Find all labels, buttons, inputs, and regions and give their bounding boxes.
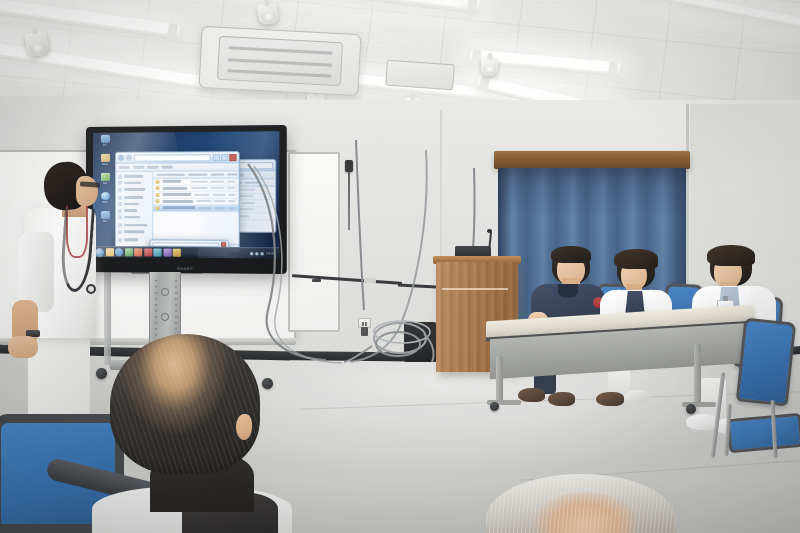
ceiling-spotlight: [24, 30, 50, 57]
hair-fringe: [614, 249, 658, 269]
clasped-hands: [8, 336, 38, 358]
tv-stand-mount-hole: [161, 313, 169, 321]
explorer-titlebar[interactable]: [116, 152, 239, 164]
ceiling-spotlight: [257, 3, 279, 25]
start-button[interactable]: [95, 248, 104, 257]
ceiling-air-conditioner: [198, 26, 361, 96]
office-taskbar-icon[interactable]: [144, 248, 152, 256]
caster-wheel-icon: [96, 368, 107, 379]
blue-stacking-chair[interactable]: [736, 318, 796, 407]
sidebar-group-network[interactable]: [118, 237, 151, 242]
shoe: [596, 392, 624, 406]
maximize-button[interactable]: [221, 154, 228, 161]
table-row[interactable]: [154, 205, 239, 212]
table-leg: [694, 344, 701, 406]
id-badge-clip-icon: [723, 296, 728, 301]
ceiling-spotlight: [481, 58, 498, 76]
display-brand-label: SHARP: [177, 266, 193, 271]
caster-wheel-icon: [262, 378, 273, 389]
browser-taskbar-icon[interactable]: [115, 248, 123, 256]
minimize-button[interactable]: [213, 154, 220, 161]
caster-wheel-icon: [686, 404, 696, 414]
microphone-icon: [487, 229, 492, 233]
mail-taskbar-icon[interactable]: [134, 248, 142, 256]
coiled-cables: [366, 312, 446, 372]
chat-taskbar-icon[interactable]: [153, 248, 161, 256]
folder-icon[interactable]: Docs: [96, 154, 114, 166]
recycle-bin-icon[interactable]: Bin: [96, 211, 114, 223]
sidebar-group-computer[interactable]: [118, 223, 151, 235]
ear: [236, 414, 252, 440]
scrub-v-neck: [558, 284, 578, 298]
table-leg: [496, 356, 503, 404]
hair-fringe: [707, 245, 755, 266]
address-bar[interactable]: [134, 154, 211, 162]
blue-chair-seat[interactable]: [727, 413, 800, 453]
computer-icon[interactable]: PC: [96, 135, 114, 147]
explorer-sidebar[interactable]: [116, 172, 154, 251]
stethoscope-bell-icon: [86, 284, 96, 294]
shoe: [548, 392, 575, 406]
browser-icon[interactable]: Web: [96, 192, 114, 204]
back-arrow-icon[interactable]: [118, 155, 124, 161]
shoe: [624, 390, 650, 403]
face: [76, 176, 98, 206]
hair-fringe: [551, 246, 591, 263]
sidebar-group-libraries[interactable]: [118, 195, 151, 220]
caster-wheel-icon: [490, 402, 499, 411]
curtain-valance: [494, 151, 690, 169]
explorer-taskbar-icon[interactable]: [105, 248, 113, 256]
viewer-taskbar-icon[interactable]: [163, 249, 171, 257]
podium-trim: [442, 288, 508, 290]
tv-stand-mount-hole: [161, 288, 169, 296]
media-taskbar-icon[interactable]: [125, 248, 133, 256]
sidebar-group-favorites[interactable]: [118, 174, 151, 192]
tool-taskbar-icon[interactable]: [173, 249, 181, 257]
forward-arrow-icon[interactable]: [126, 155, 132, 161]
file-explorer-window[interactable]: [115, 151, 240, 252]
hair-texture: [110, 334, 260, 474]
shoe: [518, 388, 545, 402]
conference-room-photo: PC Docs Net Web Bin: [0, 0, 800, 533]
ceiling-air-vent: [385, 60, 455, 91]
